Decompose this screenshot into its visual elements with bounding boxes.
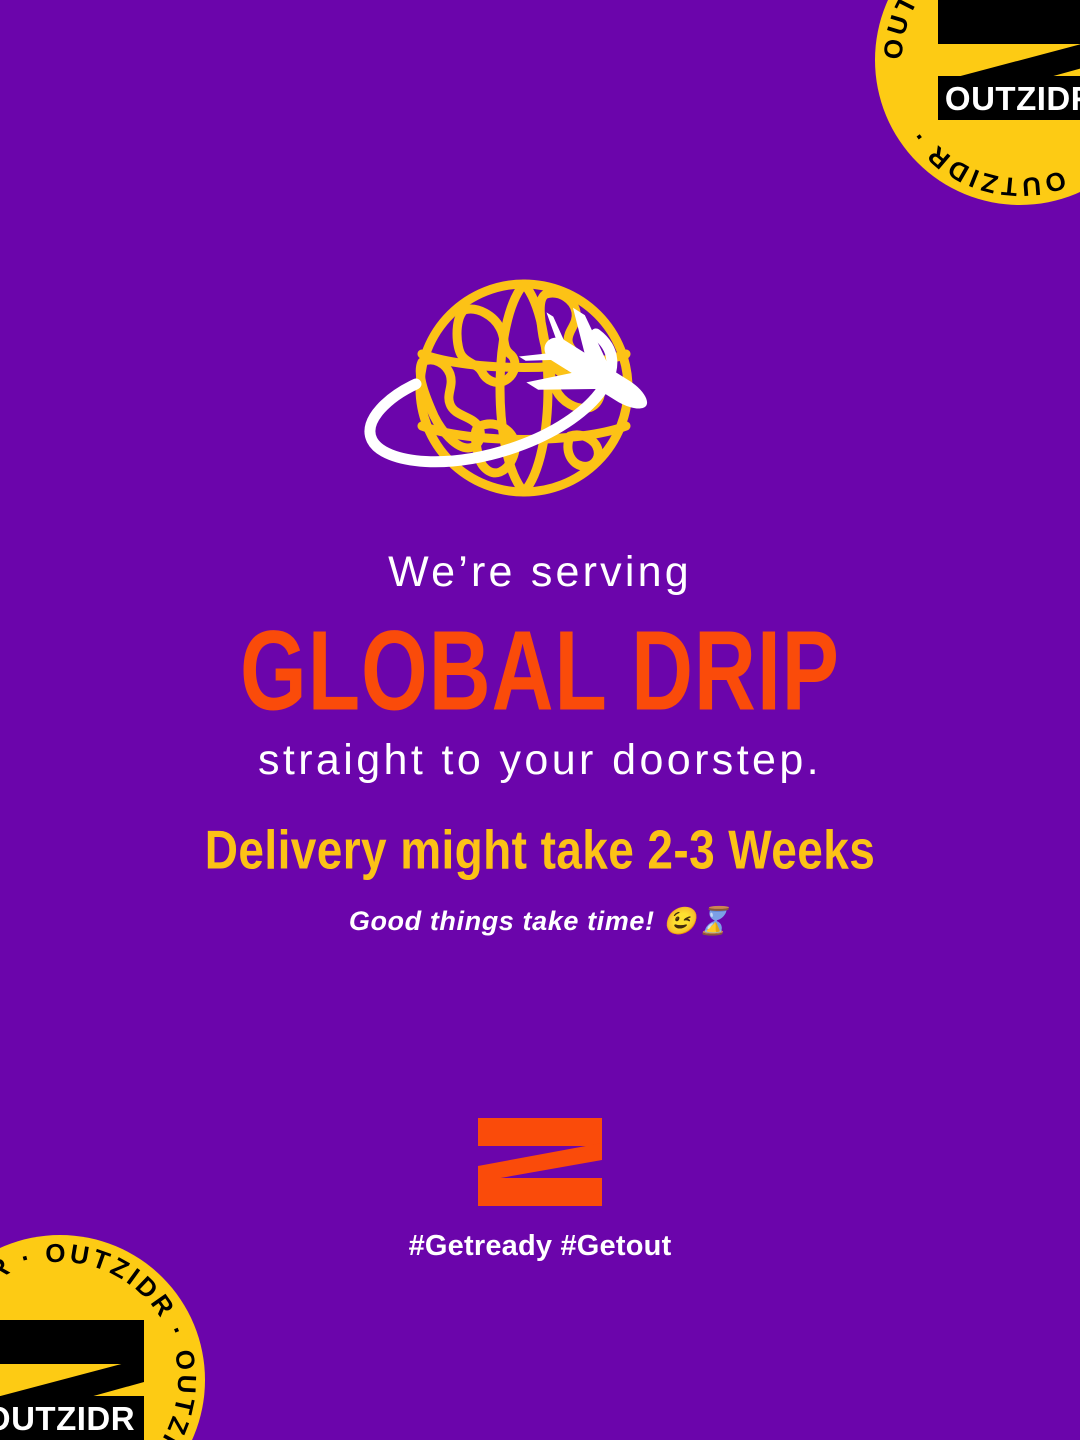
delivery-headline: Delivery might take 2-3 Weeks: [0, 818, 1080, 883]
footer-block: #Getready #Getout: [0, 1118, 1080, 1263]
globe-with-airplane-icon: [360, 276, 720, 508]
outzidr-badge-bottom-left: OUTZIDR · OUTZIDR · OUTZIDR · OUTZIDR · …: [0, 1232, 208, 1440]
delivery-note: Good things take time! 😉⌛: [0, 905, 1080, 937]
hashtags-text: #Getready #Getout: [0, 1230, 1080, 1263]
eyebrow-text: We’re serving: [0, 548, 1080, 597]
headline-block: We’re serving GLOBAL DRIP straight to yo…: [0, 548, 1080, 785]
subline-text: straight to your doorstep.: [0, 736, 1080, 785]
delivery-notice: Delivery might take 2-3 Weeks Good thing…: [0, 818, 1080, 938]
z-monogram-icon: [478, 1118, 602, 1206]
poster-canvas: OUTZIDR · OUTZIDR · OUTZIDR · OUTZIDR · …: [0, 0, 1080, 1440]
badge-center-wordmark: OUTZIDR: [945, 80, 1080, 117]
outzidr-badge-top-right: OUTZIDR · OUTZIDR · OUTZIDR · OUTZIDR · …: [872, 0, 1080, 208]
badge-center-wordmark: OUTZIDR: [0, 1400, 135, 1437]
page-title: GLOBAL DRIP: [0, 611, 1080, 730]
